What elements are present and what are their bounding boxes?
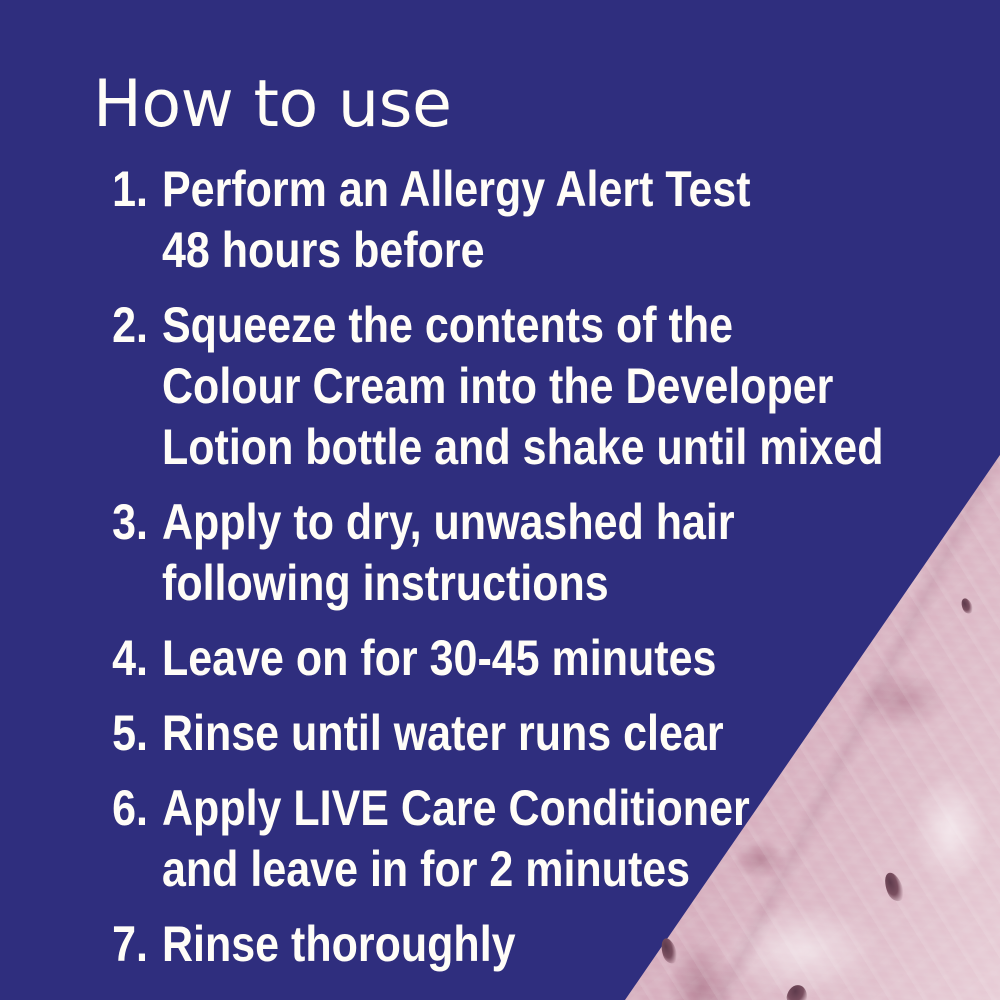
step-number: 2.: [95, 295, 148, 356]
step-number: 5.: [95, 703, 148, 764]
step-text-line: Perform an Allergy Alert Test: [162, 159, 917, 220]
step-text-line: Lotion bottle and shake until mixed: [162, 417, 917, 478]
list-item: 7. Rinse thoroughly: [40, 914, 1000, 975]
step-text-line: Rinse thoroughly: [162, 914, 917, 975]
step-text-line: Rinse until water runs clear: [162, 703, 917, 764]
step-text-line: Apply LIVE Care Conditioner: [162, 778, 917, 839]
step-text: Leave on for 30-45 minutes: [162, 628, 917, 689]
step-text: Squeeze the contents of the Colour Cream…: [162, 295, 917, 478]
step-text: Rinse until water runs clear: [162, 703, 917, 764]
how-to-use-panel: How to use 1. Perform an Allergy Alert T…: [0, 0, 1000, 1000]
step-number: 3.: [95, 492, 148, 553]
step-text-line: Leave on for 30-45 minutes: [162, 628, 917, 689]
step-text: Rinse thoroughly: [162, 914, 917, 975]
page-title: How to use: [93, 72, 451, 137]
list-item: 1. Perform an Allergy Alert Test 48 hour…: [40, 159, 1000, 281]
step-text-line: Colour Cream into the Developer: [162, 356, 917, 417]
instruction-list: 1. Perform an Allergy Alert Test 48 hour…: [0, 159, 1000, 989]
step-text: Apply LIVE Care Conditioner and leave in…: [162, 778, 917, 900]
step-number: 6.: [95, 778, 148, 839]
list-item: 3. Apply to dry, unwashed hair following…: [40, 492, 1000, 614]
step-text-line: following instructions: [162, 553, 917, 614]
step-text-line: 48 hours before: [162, 220, 917, 281]
list-item: 4. Leave on for 30-45 minutes: [40, 628, 1000, 689]
list-item: 2. Squeeze the contents of the Colour Cr…: [40, 295, 1000, 478]
step-number: 7.: [95, 914, 148, 975]
list-item: 5. Rinse until water runs clear: [40, 703, 1000, 764]
step-number: 4.: [95, 628, 148, 689]
step-number: 1.: [95, 159, 148, 220]
list-item: 6. Apply LIVE Care Conditioner and leave…: [40, 778, 1000, 900]
step-text-line: Squeeze the contents of the: [162, 295, 917, 356]
step-text-line: and leave in for 2 minutes: [162, 839, 917, 900]
step-text-line: Apply to dry, unwashed hair: [162, 492, 917, 553]
step-text: Perform an Allergy Alert Test 48 hours b…: [162, 159, 917, 281]
step-text: Apply to dry, unwashed hair following in…: [162, 492, 917, 614]
